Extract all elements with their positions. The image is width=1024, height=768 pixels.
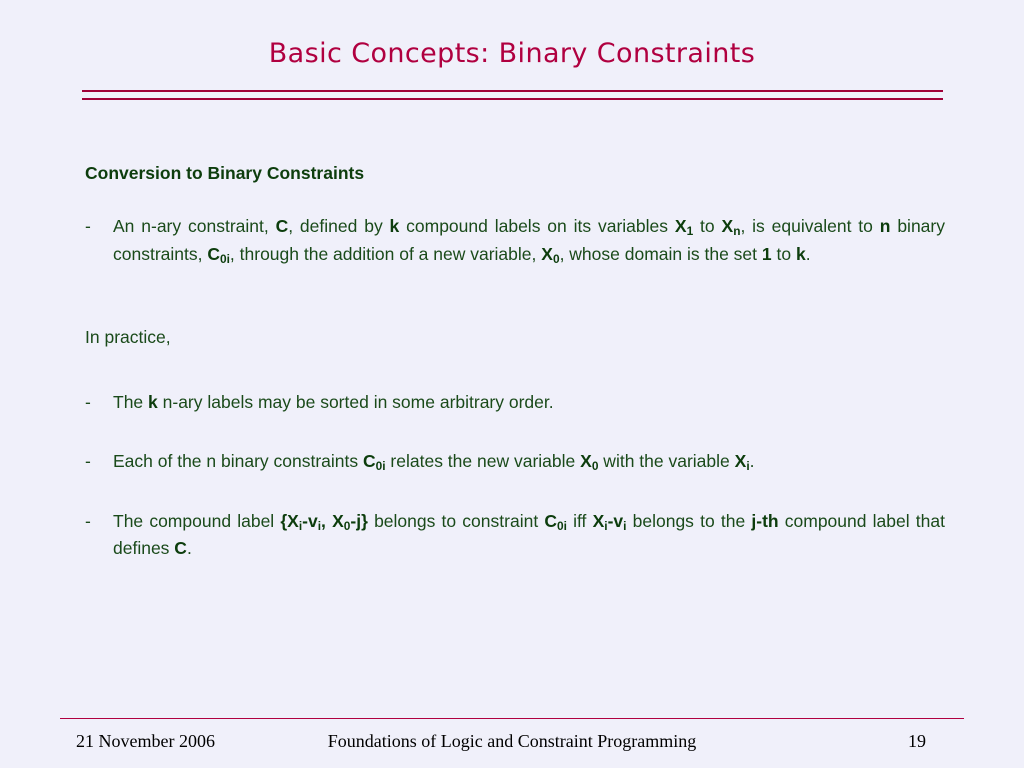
text-bold: k [148,392,158,412]
bullet-text-3: Each of the n binary constraints C0i rel… [113,448,945,475]
footer-title: Foundations of Logic and Constraint Prog… [0,731,1024,752]
text-fragment: , whose domain is the set [560,244,762,264]
text-bold: C0i [207,244,230,264]
text-bold: C0i [363,451,386,471]
text-fragment: Each of the n binary constraints [113,451,363,471]
text-fragment: The [113,392,148,412]
text-fragment: . [750,451,755,471]
text-fragment: An n-ary constraint, [113,216,276,236]
text-bold: X0 [580,451,598,471]
text-fragment: {X [280,511,298,531]
text-fragment: with the variable [598,451,734,471]
text-bold: C [174,538,187,558]
slide-footer: 21 November 2006 Foundations of Logic an… [0,731,1024,757]
text-fragment: , X [321,511,344,531]
bullet-dash: - [85,448,113,475]
text-fragment: . [806,244,811,264]
text-subscript: 0i [220,252,230,266]
slide-content: Conversion to Binary Constraints - An n-… [85,160,945,572]
text-fragment: X [735,451,747,471]
in-practice-text: In practice, [85,324,945,351]
text-fragment: . [187,538,192,558]
text-fragment: compound labels on its variables [399,216,675,236]
bullet-text-4: The compound label {Xi-vi, X0-j} belongs… [113,508,945,563]
bullet-dash: - [85,213,113,268]
spacer [85,278,945,324]
bullet-text-2: The k n-ary labels may be sorted in some… [113,389,945,416]
bullet-item-3: - Each of the n binary constraints C0i r… [85,448,945,475]
text-fragment: C [363,451,376,471]
bullet-dash: - [85,508,113,563]
bullet-item-4: - The compound label {Xi-vi, X0-j} belon… [85,508,945,563]
text-bold: k [796,244,806,264]
text-fragment: -v [302,511,318,531]
title-divider [82,90,943,100]
text-subscript: 0i [557,519,567,533]
footer-page-number: 19 [908,731,926,752]
text-fragment: , through the addition of a new variable… [230,244,541,264]
text-fragment: X [675,216,687,236]
footer-divider [60,718,964,719]
text-fragment: X [580,451,592,471]
text-bold: C [276,216,289,236]
text-bold: C0i [544,511,567,531]
text-bold: X0 [541,244,559,264]
text-bold: Xi-vi [593,511,627,531]
text-subscript: 0 [553,252,560,266]
text-fragment: C [207,244,220,264]
text-bold: 1 [762,244,772,264]
spacer [85,426,945,448]
text-fragment: X [593,511,605,531]
text-fragment: X [722,216,734,236]
section-heading: Conversion to Binary Constraints [85,160,945,187]
text-bold: k [390,216,400,236]
text-bold: {Xi-vi, X0-j} [280,511,368,531]
text-fragment: X [541,244,553,264]
text-fragment: , is equivalent to [740,216,879,236]
text-bold: j-th [751,511,778,531]
text-bold: Xi [735,451,750,471]
text-fragment: belongs to the [626,511,751,531]
text-subscript: 0i [376,459,386,473]
text-fragment: n-ary labels may be sorted in some arbit… [158,392,554,412]
text-fragment: C [544,511,557,531]
text-fragment: The compound label [113,511,280,531]
text-bold: Xn [722,216,741,236]
bullet-item-2: - The k n-ary labels may be sorted in so… [85,389,945,416]
bullet-item-1: - An n-ary constraint, C, defined by k c… [85,213,945,268]
text-bold: X1 [675,216,693,236]
text-fragment: , defined by [288,216,389,236]
text-bold: n [880,216,891,236]
page-title: Basic Concepts: Binary Constraints [0,38,1024,69]
spacer [85,369,945,389]
text-fragment: to [772,244,796,264]
text-fragment: belongs to constraint [368,511,544,531]
slide: Basic Concepts: Binary Constraints Conve… [0,0,1024,768]
text-fragment: to [693,216,721,236]
text-fragment: iff [567,511,593,531]
text-fragment: relates the new variable [386,451,581,471]
text-fragment: -j} [350,511,368,531]
bullet-text-1: An n-ary constraint, C, defined by k com… [113,213,945,268]
spacer [85,486,945,508]
text-fragment: -v [608,511,624,531]
bullet-dash: - [85,389,113,416]
